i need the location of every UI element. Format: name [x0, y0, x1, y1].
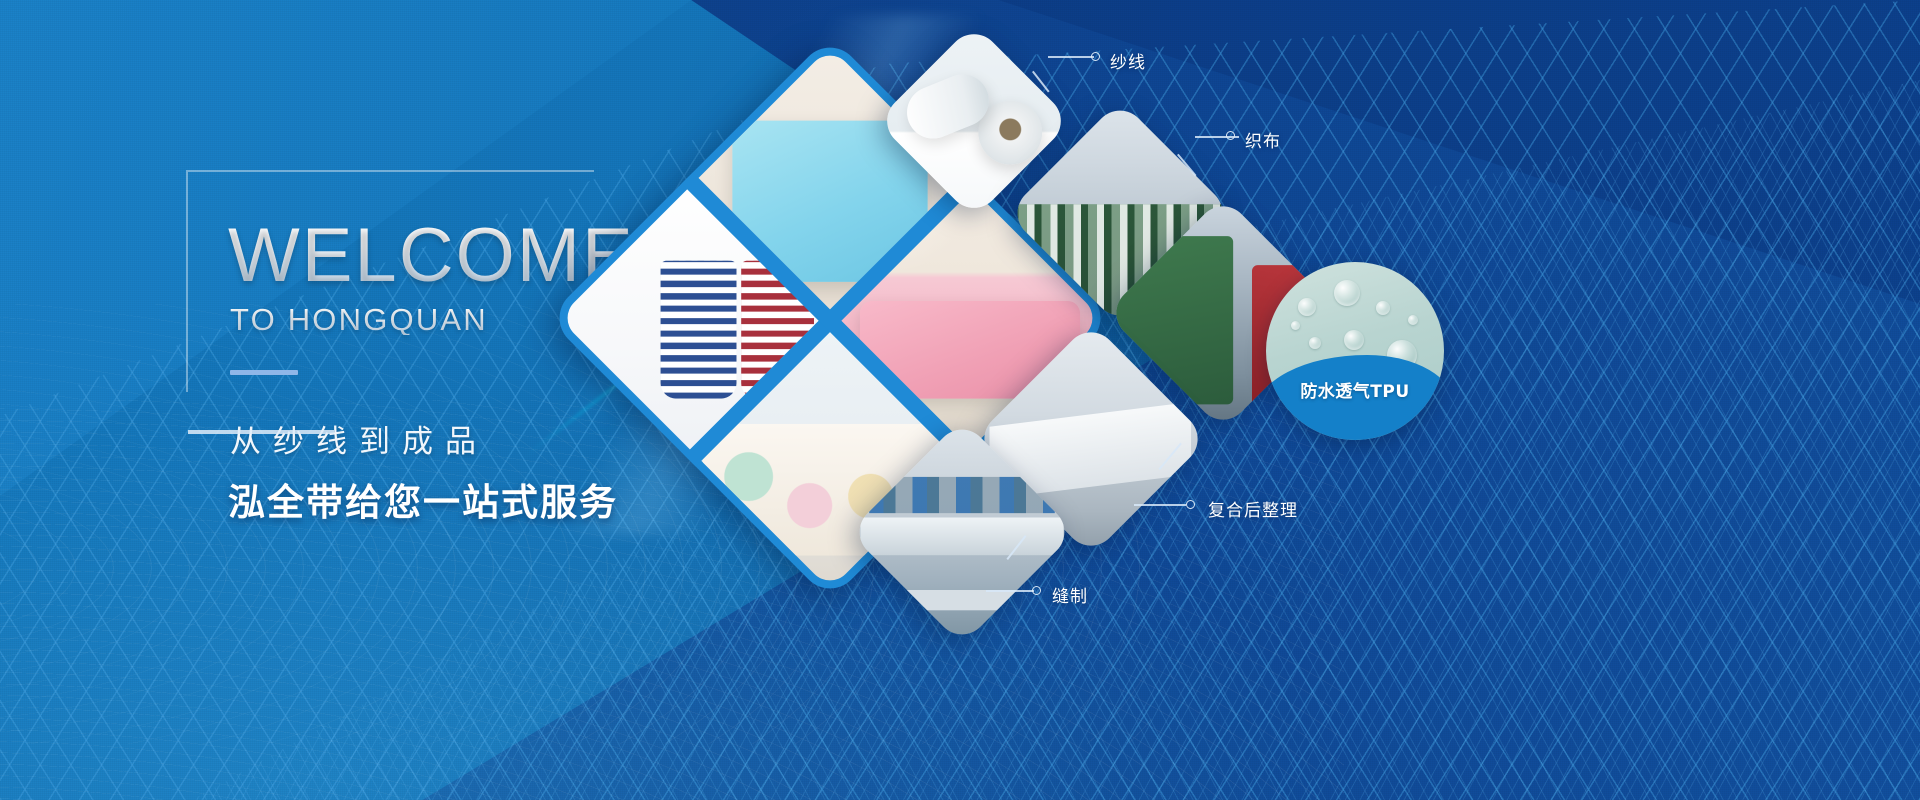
connector-weaving — [1177, 155, 1267, 195]
connector-yarn — [1032, 72, 1122, 112]
subhead-to-hongquan: TO HONGQUAN — [230, 304, 488, 335]
step-label-yarn: 纱线 — [1110, 48, 1146, 73]
tagline-chinese: 从纱线到成品 — [230, 416, 488, 461]
process-diagram: 防水透气TPU 纱线 织布 染布 — [560, 0, 1920, 800]
step-label-finishing: 复合后整理 — [1208, 496, 1298, 521]
connector-dot-sewing — [1032, 586, 1041, 595]
hero-banner: WELCOME TO HONGQUAN 从纱线到成品 泓全带给您一站式服务 — [0, 0, 1920, 800]
step-label-sewing: 缝制 — [1052, 582, 1088, 607]
tpu-badge: 防水透气TPU — [1266, 262, 1444, 440]
connector-dot-finishing — [1186, 500, 1195, 509]
connector-dot-yarn — [1091, 52, 1100, 61]
step-label-weaving: 织布 — [1245, 127, 1281, 152]
divider-long — [188, 430, 334, 434]
tpu-badge-label: 防水透气TPU — [1266, 377, 1444, 402]
divider-short — [230, 370, 298, 375]
connector-dot-weaving — [1226, 131, 1235, 140]
